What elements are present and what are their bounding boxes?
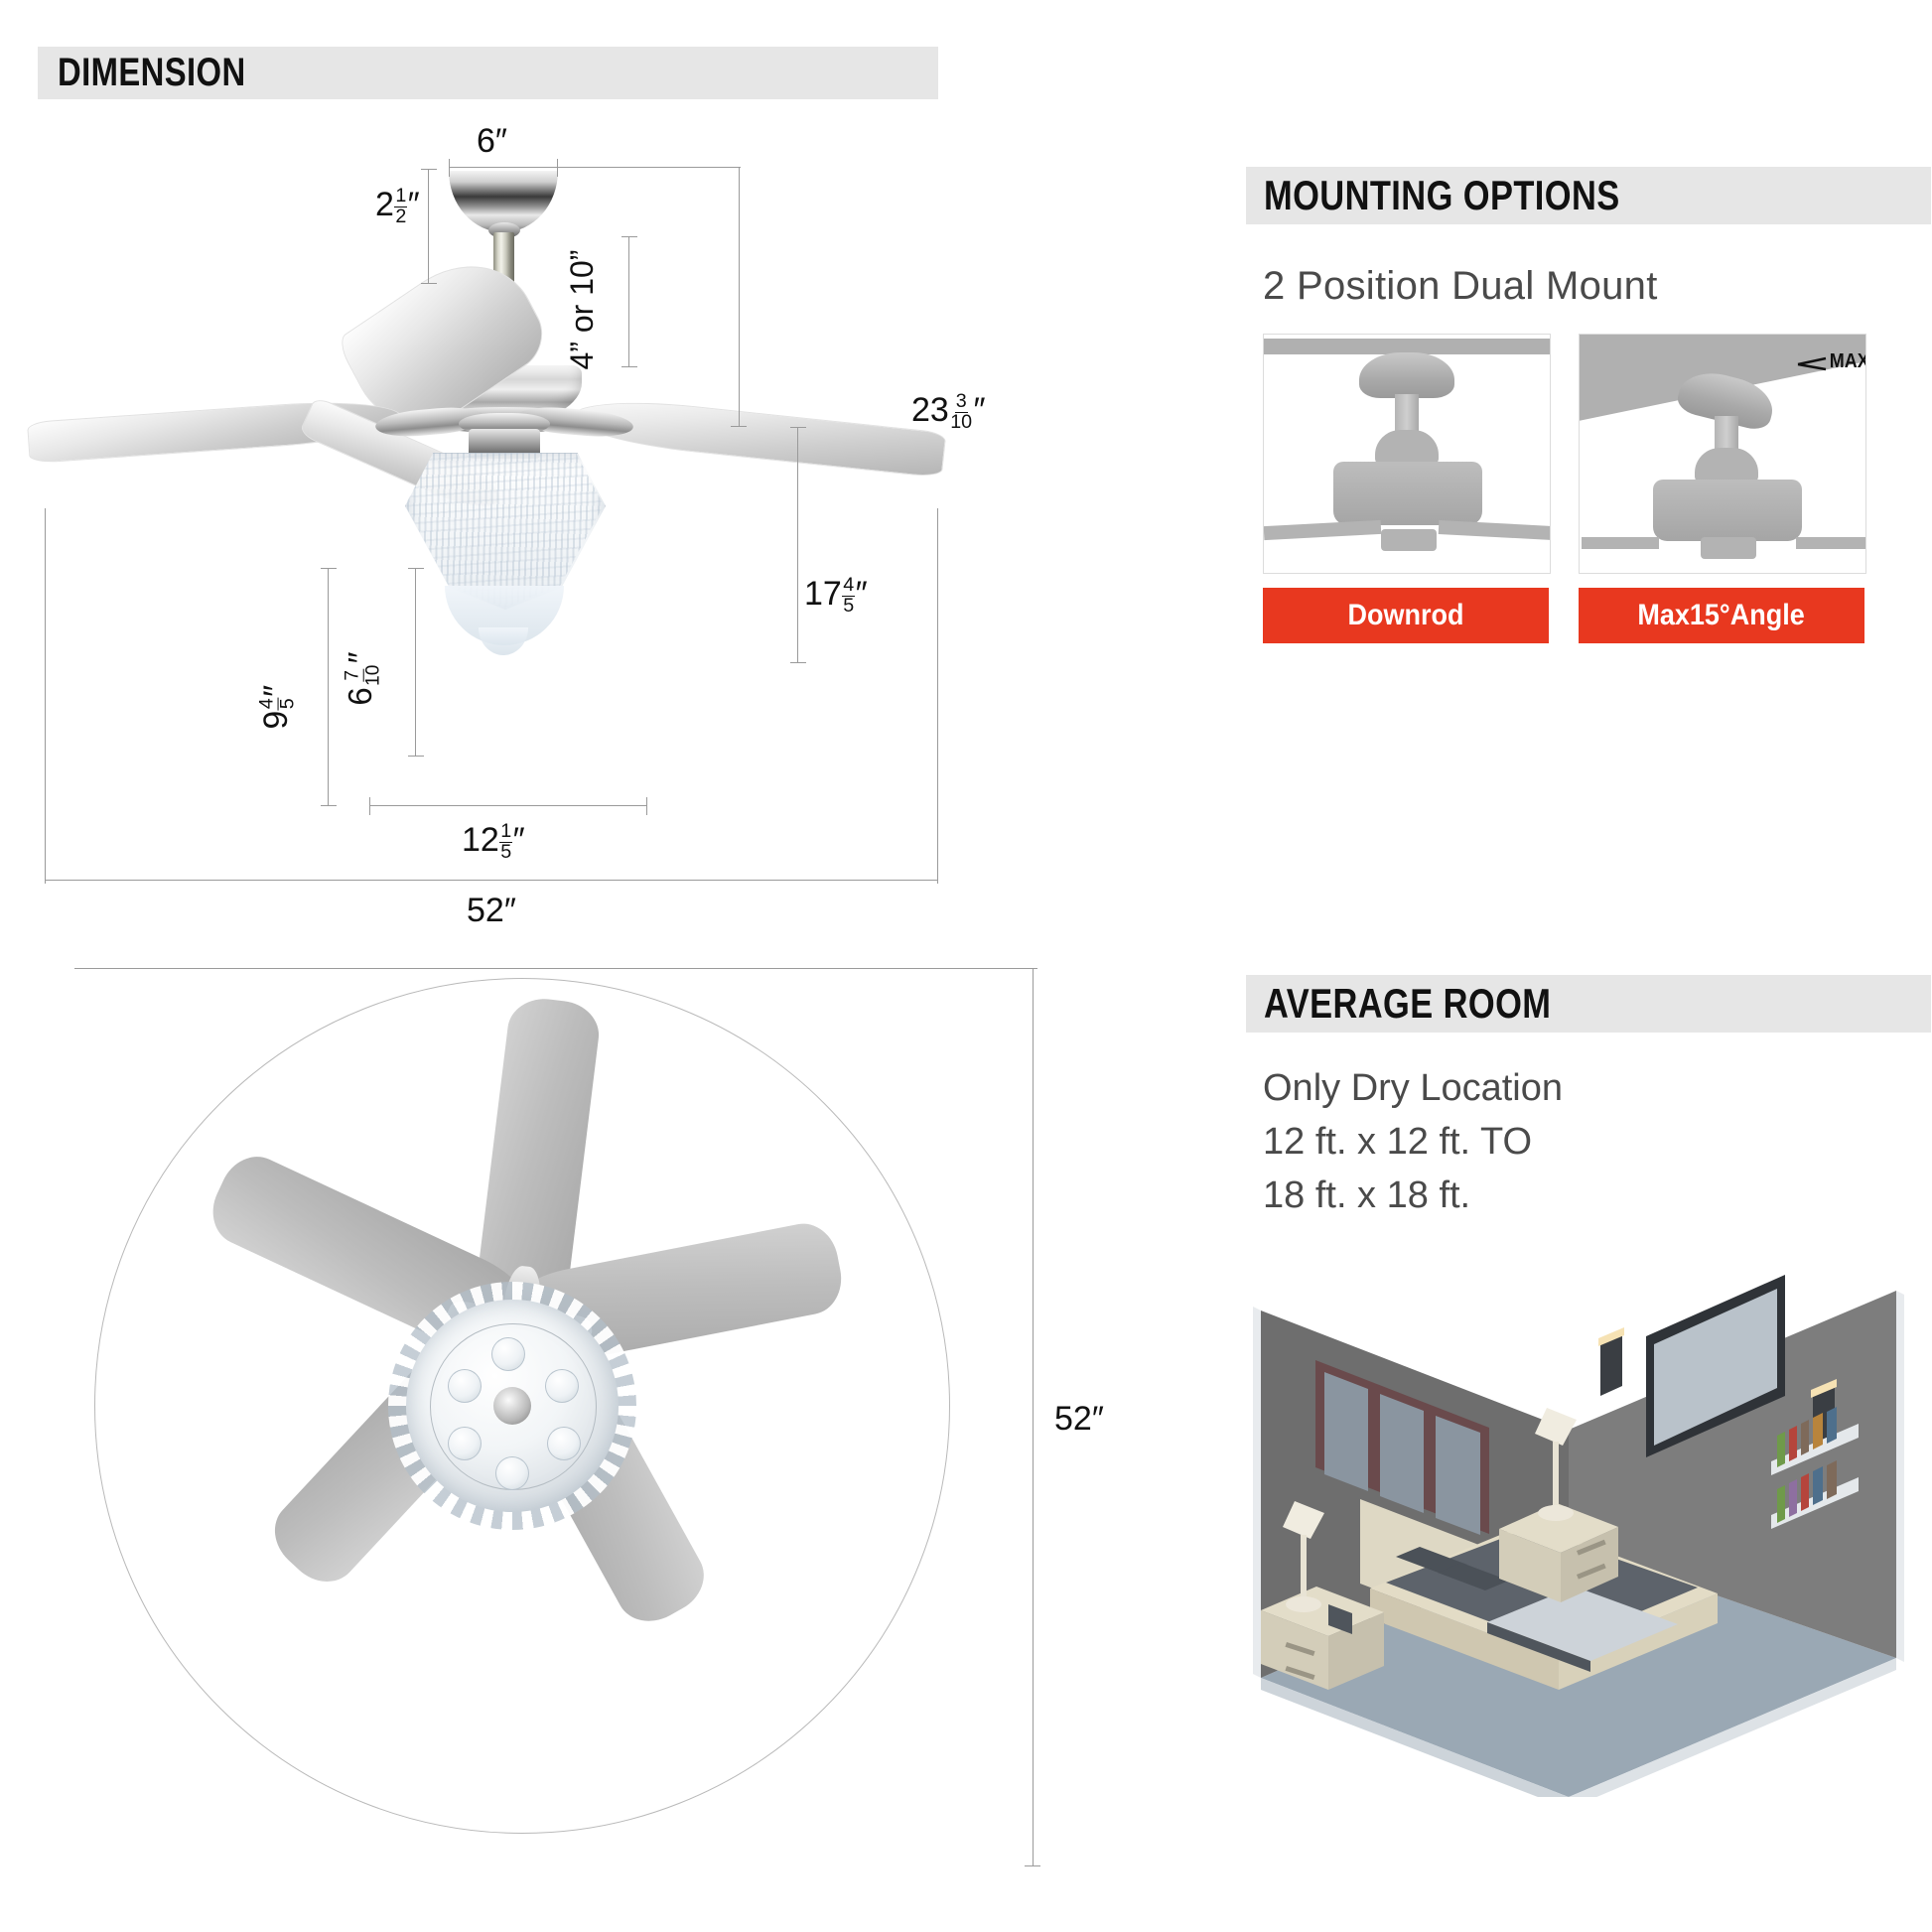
wall-edge-left [1253, 1307, 1261, 1678]
window-pane-3 [1436, 1416, 1480, 1535]
dim-span-top-tick-bottom [1025, 1865, 1040, 1866]
book-l1 [1777, 1485, 1785, 1523]
wall-edge-right [1896, 1291, 1904, 1662]
table-lamp-right-stem [1553, 1442, 1559, 1509]
mount-coupler-angled [1695, 448, 1758, 483]
average-room-title: AVERAGE ROOM [1264, 980, 1551, 1028]
max-angle-annotation: MAX15° [1830, 350, 1866, 373]
mounting-section-header: MOUNTING OPTIONS [1246, 167, 1931, 224]
dim-span-top-tick-top [74, 968, 1037, 969]
mount-blade-flat-left [1264, 520, 1382, 540]
table-lamp-left-base [1286, 1596, 1321, 1612]
mounting-option-angle-image: MAX15° [1579, 334, 1866, 574]
window-pane-1 [1324, 1372, 1368, 1491]
mount-coupler-flat [1375, 430, 1439, 466]
table-lamp-left-stem [1301, 1535, 1307, 1600]
mount-lightkit-flat [1381, 529, 1437, 551]
mount-blade-flat-right [1439, 520, 1551, 540]
book-u1 [1777, 1432, 1785, 1467]
average-room-line-3: 18 ft. x 18 ft. [1263, 1170, 1563, 1223]
mounting-option-downrod-label[interactable]: Downrod [1263, 588, 1549, 643]
window-pane-2 [1380, 1394, 1424, 1513]
book-l2 [1789, 1479, 1797, 1517]
average-room-line-2: 12 ft. x 12 ft. TO [1263, 1116, 1563, 1170]
mount-lightkit-angled [1701, 537, 1756, 559]
mount-canopy-flat [1359, 352, 1454, 398]
book-u3 [1801, 1420, 1809, 1455]
book-l5 [1827, 1460, 1837, 1499]
bedroom-illustration [1201, 1241, 1932, 1797]
mounting-subtitle: 2 Position Dual Mount [1263, 264, 1658, 309]
mounting-title: MOUNTING OPTIONS [1264, 172, 1620, 219]
mounting-option-downrod-image [1263, 334, 1551, 574]
average-room-text: Only Dry Location 12 ft. x 12 ft. TO 18 … [1263, 1062, 1563, 1223]
dim-span-top-label: 52″ [1054, 1402, 1104, 1436]
book-u4 [1813, 1413, 1823, 1449]
book-u2 [1789, 1426, 1797, 1461]
mount-blade-angled-right [1796, 537, 1865, 549]
average-room-line-1: Only Dry Location [1263, 1062, 1563, 1116]
book-u5 [1827, 1407, 1837, 1444]
mount-motor-angled [1653, 480, 1802, 541]
book-l4 [1813, 1466, 1823, 1505]
mount-blade-angled-left [1582, 537, 1659, 549]
book-l3 [1801, 1473, 1809, 1511]
mounting-option-angle-label[interactable]: Max15°Angle [1579, 588, 1864, 643]
dim-span-top-line [1033, 968, 1034, 1866]
average-room-section-header: AVERAGE ROOM [1246, 975, 1931, 1033]
table-lamp-right-base [1538, 1505, 1574, 1521]
mount-motor-flat [1333, 462, 1482, 525]
top-view-dimensions: 52″ [0, 0, 1092, 1932]
